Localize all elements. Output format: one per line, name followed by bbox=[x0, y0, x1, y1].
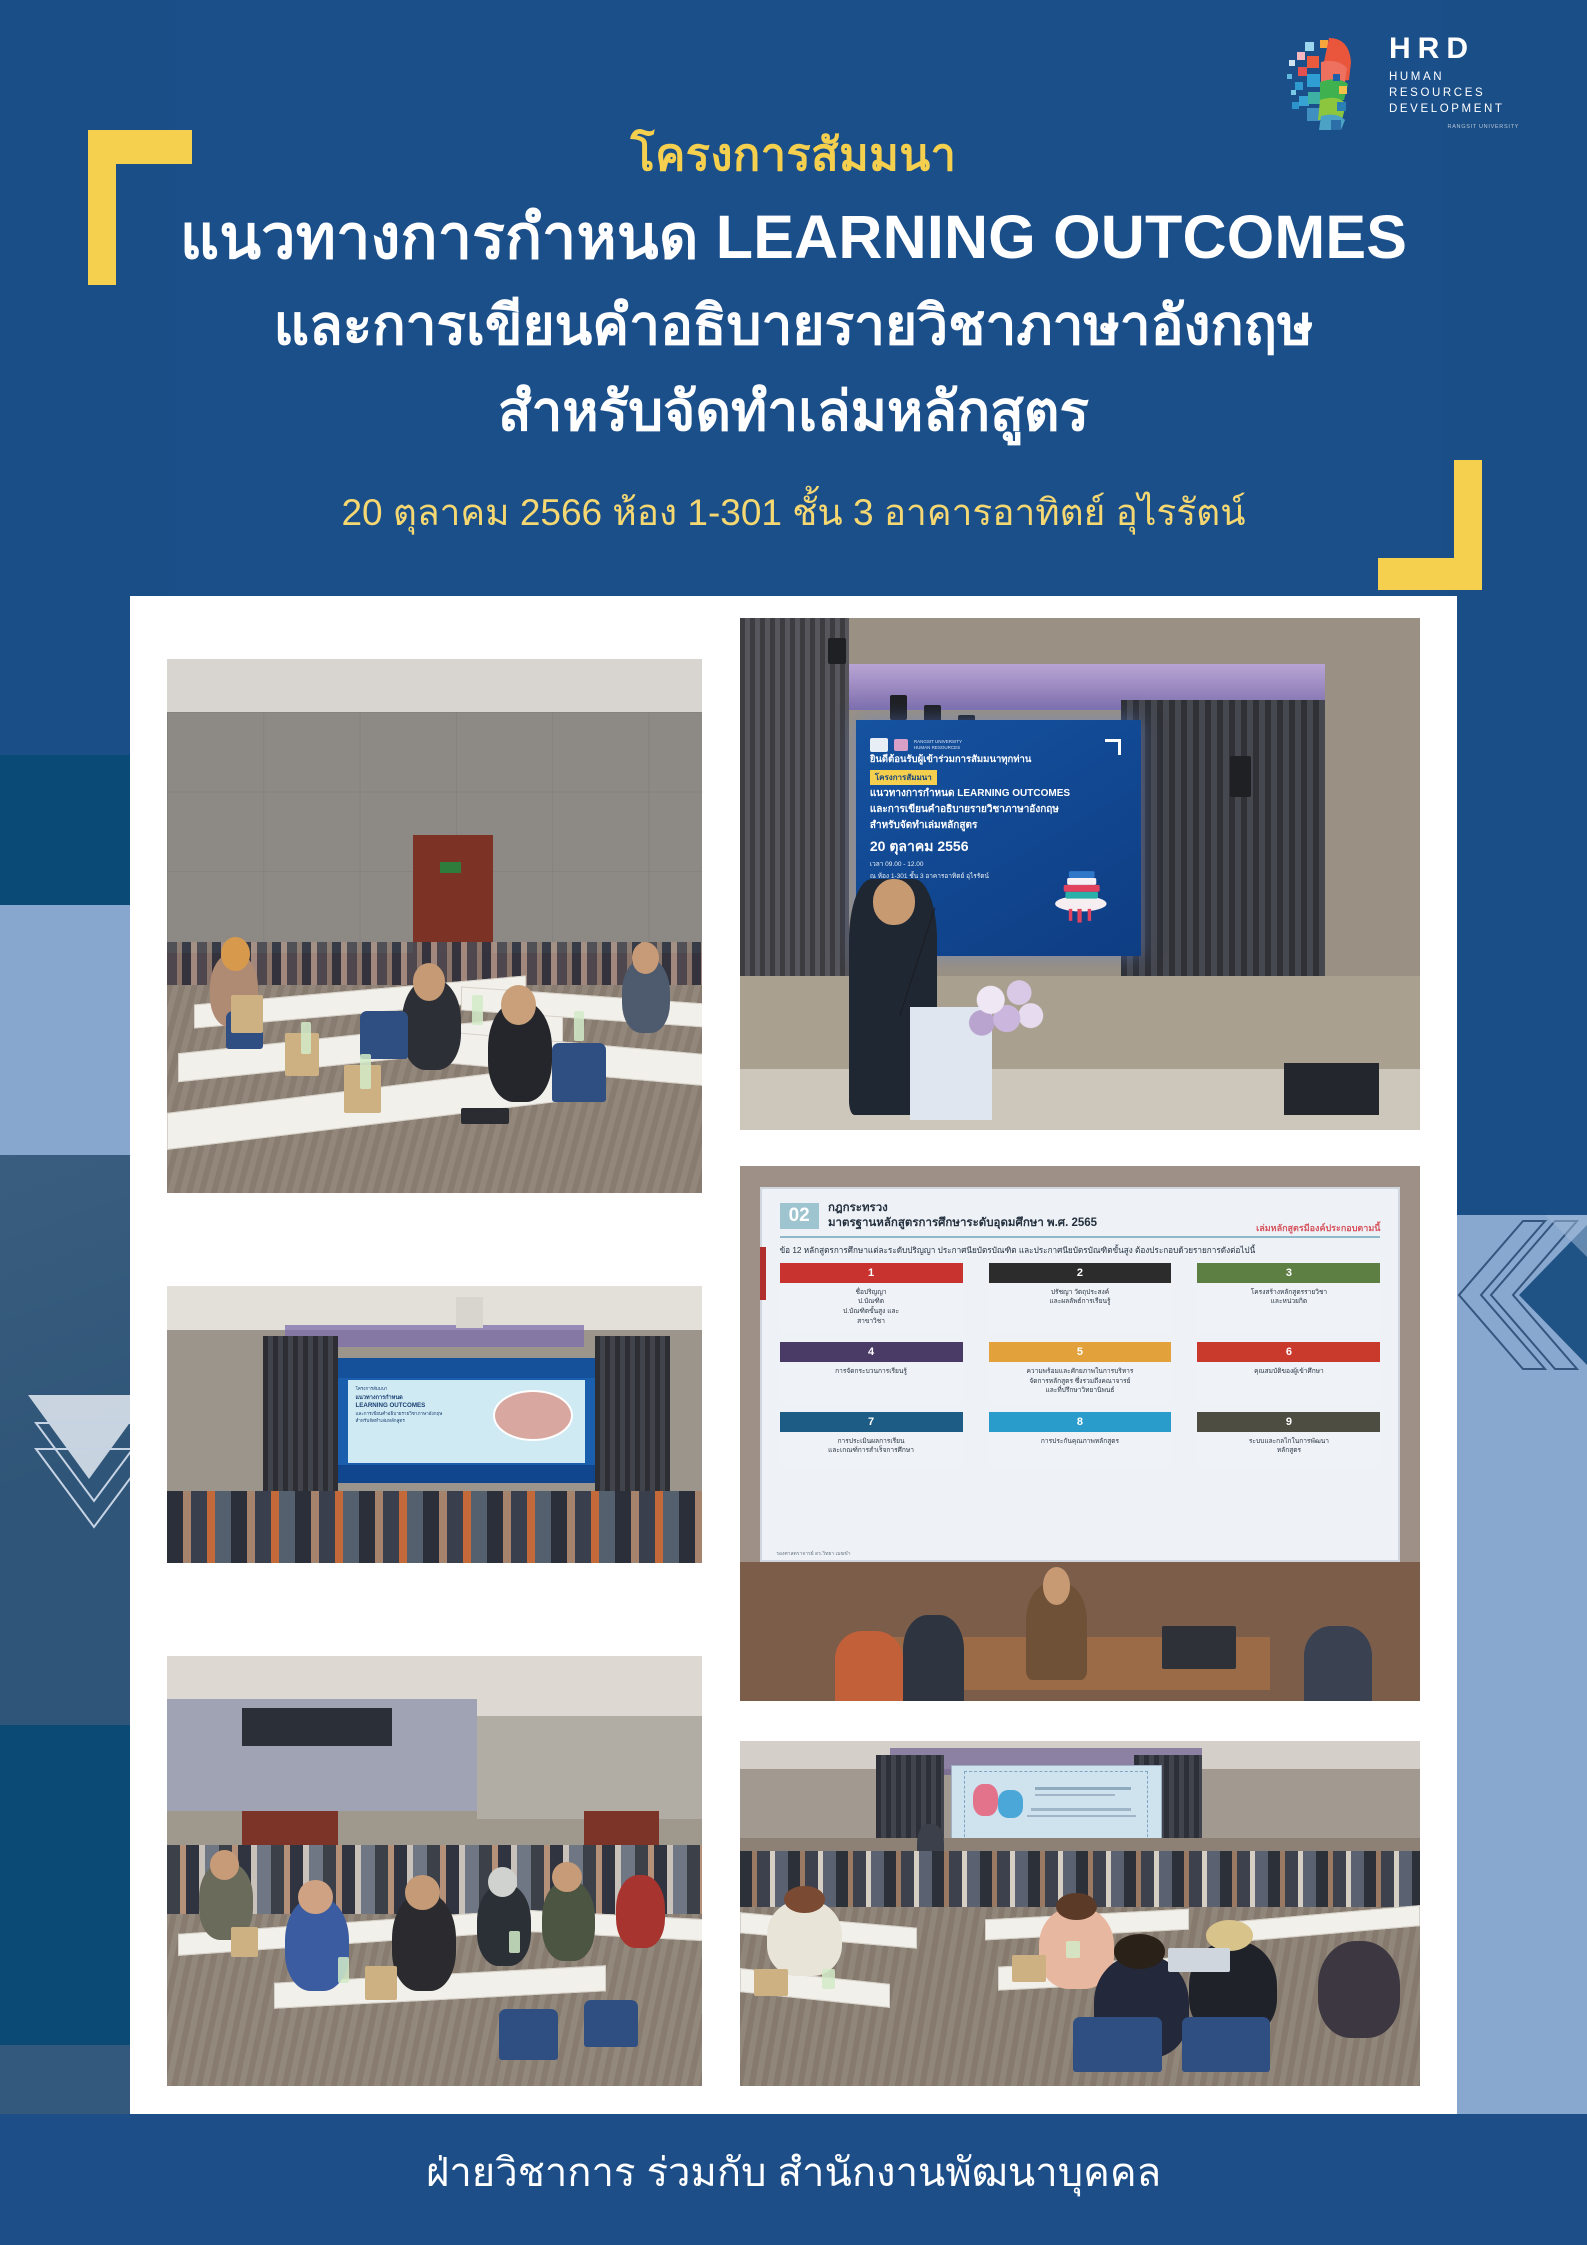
ministry-item-9: 9ระบบและกลไกในการพัฒนาหลักสูตร bbox=[1197, 1412, 1380, 1468]
photo-stage-opening: RANGSIT UNIVERSITYHUMAN RESOURCES ยินดีต… bbox=[740, 618, 1420, 1130]
ministry-item-number-2: 2 bbox=[989, 1263, 1172, 1283]
ministry-item-2: 2ปรัชญา วัตถุประสงค์และผลลัพธ์การเรียนรู… bbox=[989, 1263, 1172, 1334]
header-title-2: และการเขียนคำอธิบายรายวิชาภาษาอังกฤษ bbox=[0, 282, 1587, 369]
ministry-slide-source: รองศาสตราจารย์ ดร.วิทยา เมฆขำ bbox=[776, 1550, 850, 1558]
stage-slide-welcome: ยินดีต้อนรับผู้เข้าร่วมการสัมมนาทุกท่าน bbox=[870, 752, 1127, 767]
ministry-item-8: 8การประกันคุณภาพหลักสูตร bbox=[989, 1412, 1172, 1468]
ministry-item-text-9: ระบบและกลไกในการพัฒนาหลักสูตร bbox=[1197, 1432, 1380, 1468]
photo-seminar-room-wide bbox=[167, 659, 702, 1193]
ministry-item-number-5: 5 bbox=[989, 1342, 1172, 1362]
header-title-3: สำหรับจัดทำเล่มหลักสูตร bbox=[0, 368, 1587, 455]
ministry-item-number-6: 6 bbox=[1197, 1342, 1380, 1362]
hrd-word-resources: RESOURCES bbox=[1389, 86, 1519, 102]
header-title-1: แนวทางการกำหนด LEARNING OUTCOMES bbox=[0, 188, 1587, 285]
hrd-abbr: HRD bbox=[1389, 34, 1519, 64]
ministry-item-number-9: 9 bbox=[1197, 1412, 1380, 1432]
photo-audience-back bbox=[740, 1741, 1420, 2086]
ministry-item-number-1: 1 bbox=[780, 1263, 963, 1283]
stage-slide-line1: แนวทางการกำหนด LEARNING OUTCOMES bbox=[870, 787, 1127, 801]
ministry-item-number-3: 3 bbox=[1197, 1263, 1380, 1283]
hrd-logo-text: HRD HUMAN RESOURCES DEVELOPMENT RANGSIT … bbox=[1389, 34, 1519, 130]
ministry-item-number-7: 7 bbox=[780, 1412, 963, 1432]
hrd-word-human: HUMAN bbox=[1389, 70, 1519, 86]
ministry-item-text-6: คุณสมบัติของผู้เข้าศึกษา bbox=[1197, 1362, 1380, 1398]
laptop-screen bbox=[1168, 1948, 1229, 1972]
stage-slide-line2: และการเขียนคำอธิบายรายวิชาภาษาอังกฤษ bbox=[870, 803, 1127, 817]
hrd-logo: HRD HUMAN RESOURCES DEVELOPMENT RANGSIT … bbox=[1285, 28, 1515, 138]
books-illustration-icon bbox=[1038, 829, 1124, 937]
ministry-item-text-5: ความพร้อมและศักยภาพในการบริหารจัดการหลัก… bbox=[989, 1362, 1172, 1404]
ministry-item-text-1: ชื่อปริญญาป.บัณฑิตป.บัณฑิตขั้นสูง และสาข… bbox=[780, 1283, 963, 1334]
ministry-item-text-8: การประกันคุณภาพหลักสูตร bbox=[989, 1432, 1172, 1468]
ministry-item-4: 4การจัดกระบวนการเรียนรู้ bbox=[780, 1342, 963, 1404]
poster-footer: ฝ่ายวิชาการ ร่วมกับ สำนักงานพัฒนาบุคคล bbox=[0, 2114, 1587, 2245]
ministry-item-text-3: โครงสร้างหลักสูตรรายวิชาและหน่วยกิต bbox=[1197, 1283, 1380, 1319]
ministry-slide-heading-1: กฎกระทรวง bbox=[828, 1202, 888, 1214]
footer-text: ฝ่ายวิชาการ ร่วมกับ สำนักงานพัฒนาบุคคล bbox=[0, 2140, 1587, 2204]
ministry-item-text-2: ปรัชญา วัตถุประสงค์และผลลัพธ์การเรียนรู้ bbox=[989, 1283, 1172, 1319]
stage-slide-chip: โครงการสัมมนา bbox=[870, 770, 937, 785]
ministry-item-1: 1ชื่อปริญญาป.บัณฑิตป.บัณฑิตขั้นสูง และสา… bbox=[780, 1263, 963, 1334]
hrd-university: RANGSIT UNIVERSITY bbox=[1389, 124, 1519, 130]
laptop-on-table bbox=[1162, 1626, 1237, 1669]
photo-slide-ministry-rules: 02 กฎกระทรวง มาตรฐานหลักสูตรการศึกษาระดั… bbox=[740, 1166, 1420, 1701]
hrd-word-development: DEVELOPMENT bbox=[1389, 102, 1519, 118]
ministry-slide-note: เล่มหลักสูตรมีองค์ประกอบตามนี้ bbox=[1256, 1221, 1380, 1235]
photo-audience-screen: โครงการสัมมนา แนวทางการกำหนด LEARNING OU… bbox=[167, 1286, 702, 1563]
ministry-slide-items-grid: 1ชื่อปริญญาป.บัณฑิตป.บัณฑิตขั้นสูง และสา… bbox=[780, 1263, 1381, 1468]
header-datetime: 20 ตุลาคม 2566 ห้อง 1-301 ชั้น 3 อาคารอา… bbox=[0, 483, 1587, 542]
ministry-item-text-7: การประเมินผลการเรียนและเกณฑ์การสำเร็จการ… bbox=[780, 1432, 963, 1468]
ministry-item-7: 7การประเมินผลการเรียนและเกณฑ์การสำเร็จกา… bbox=[780, 1412, 963, 1468]
ministry-slide-number: 02 bbox=[780, 1203, 819, 1229]
ministry-item-number-8: 8 bbox=[989, 1412, 1172, 1432]
hrd-head-mosaic-icon bbox=[1285, 34, 1381, 134]
bg-band-right-3 bbox=[1442, 2045, 1587, 2115]
photo-audience-front bbox=[167, 1656, 702, 2086]
ministry-slide-heading-2: มาตรฐานหลักสูตรการศึกษาระดับอุดมศึกษา พ.… bbox=[828, 1217, 1097, 1229]
ministry-item-text-4: การจัดกระบวนการเรียนรู้ bbox=[780, 1362, 963, 1398]
ministry-item-6: 6คุณสมบัติของผู้เข้าศึกษา bbox=[1197, 1342, 1380, 1404]
poster-header: โครงการสัมมนา แนวทางการกำหนด LEARNING OU… bbox=[0, 0, 1587, 596]
ministry-item-5: 5ความพร้อมและศักยภาพในการบริหารจัดการหลั… bbox=[989, 1342, 1172, 1404]
ministry-slide-screen: 02 กฎกระทรวง มาตรฐานหลักสูตรการศึกษาระดั… bbox=[760, 1187, 1399, 1562]
photo-collage-card: RANGSIT UNIVERSITYHUMAN RESOURCES ยินดีต… bbox=[130, 596, 1457, 2126]
ministry-slide-lead: ข้อ 12 หลักสูตรการศึกษาแต่ละระดับปริญญา … bbox=[780, 1245, 1381, 1256]
ministry-item-number-4: 4 bbox=[780, 1342, 963, 1362]
seminar-poster: โครงการสัมมนา แนวทางการกำหนด LEARNING OU… bbox=[0, 0, 1587, 2245]
ministry-item-3: 3โครงสร้างหลักสูตรรายวิชาและหน่วยกิต bbox=[1197, 1263, 1380, 1334]
